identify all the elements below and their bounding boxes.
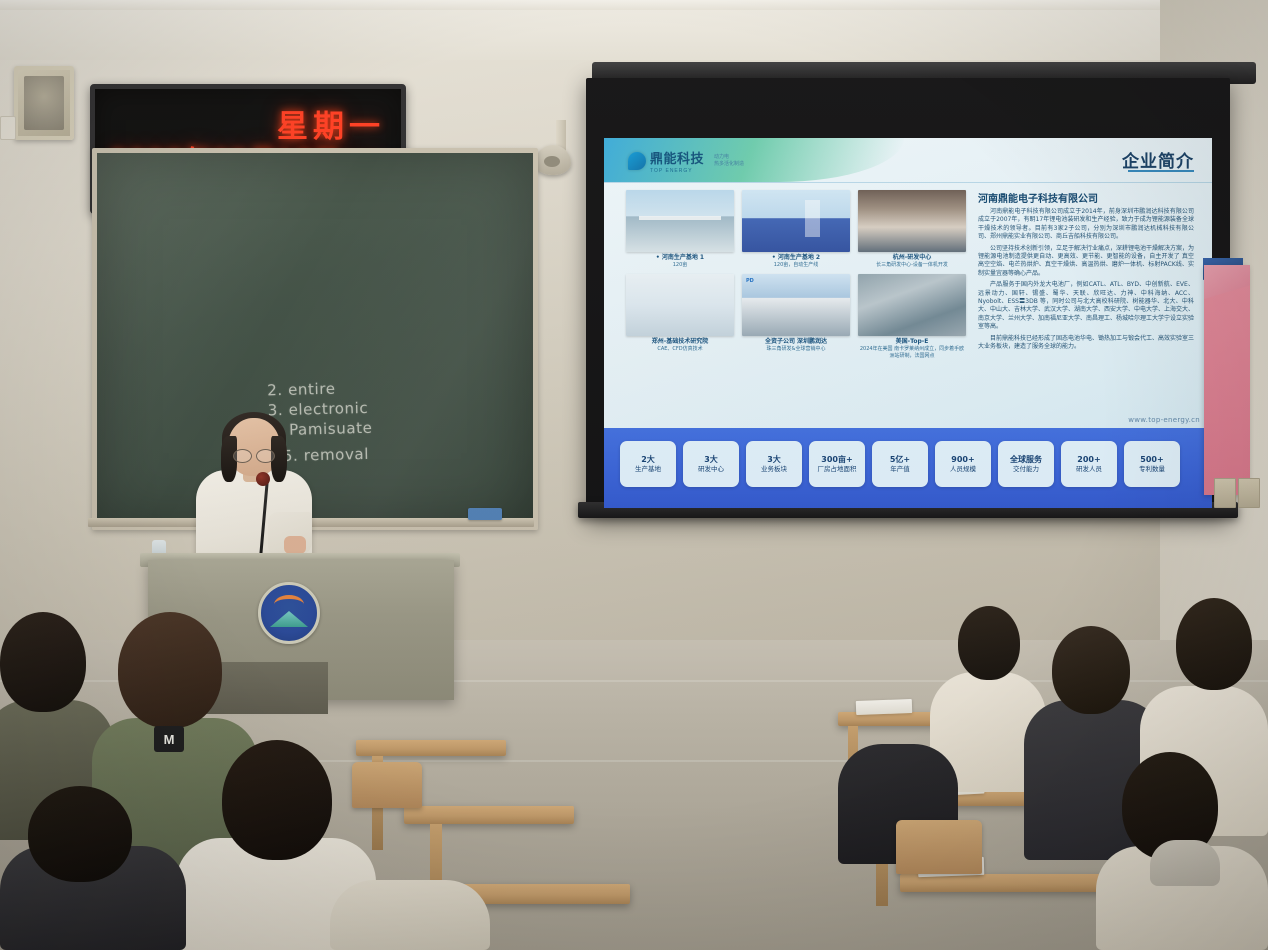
student-chair — [352, 762, 422, 808]
wall-electrical-panels[interactable] — [1214, 478, 1260, 508]
speaker-glasses-icon — [233, 449, 275, 461]
wall-speaker-icon — [14, 66, 74, 140]
photo-cell: • 河南生产基地 2 120亩，自动生产线 — [742, 190, 850, 269]
statistics-band: 2大 生产基地 3大 研发中心 3大 业务板块 300亩+ 厂房占地面积 5亿+… — [604, 428, 1212, 508]
stat-label: 研发中心 — [698, 465, 724, 474]
podium-front-panel — [206, 662, 328, 714]
photo-cell: 郑州-基础技术研究院 CAE、CFD仿真技术 — [626, 274, 734, 360]
photo-zhengzhou-research-institute — [626, 274, 734, 336]
photo-cell: PD 全资子公司 深圳鹏润达 珠三角研发&全球营销中心 — [742, 274, 850, 360]
stat-value: 200+ — [1077, 454, 1100, 465]
student-head — [222, 740, 332, 860]
company-description-block: 河南鼎能电子科技有限公司 河南鼎能电子科技有限公司成立于2014年，前身深圳市鹏… — [978, 190, 1194, 355]
photo-henan-base-2 — [742, 190, 850, 252]
student-chair — [896, 820, 982, 874]
logo-name-cn: 鼎能科技 — [650, 152, 704, 167]
slide-title-underline — [1128, 170, 1194, 172]
stat-value: 5亿+ — [890, 454, 910, 465]
stat-card: 3大 业务板块 — [746, 441, 802, 487]
company-paragraph: 河南鼎能电子科技有限公司成立于2014年，前身深圳市鹏润达科技有限公司成立于20… — [978, 208, 1194, 242]
light-switch[interactable] — [0, 116, 16, 140]
stat-card: 500+ 专利数量 — [1124, 441, 1180, 487]
photo-pd-logo: PD — [746, 278, 754, 284]
presentation-slide: 鼎能科技 TOP ENERGY 动力电 热多活化制造 企业简介 • 河南生产基地… — [604, 138, 1212, 508]
photo-subcaption: 长三角研发中心-设备一体机开发 — [858, 262, 966, 269]
photo-row-2: 郑州-基础技术研究院 CAE、CFD仿真技术 PD 全资子公司 深圳鹏润达 珠三… — [626, 274, 966, 360]
photo-subcaption: 120亩 — [626, 262, 734, 269]
led-weekday: 星期一 — [277, 101, 385, 146]
stat-label: 研发人员 — [1076, 465, 1102, 474]
slide-title: 企业简介 — [1122, 147, 1194, 172]
company-paragraph: 公司坚持技术创新引领，立足于解决行业痛点，深耕锂电池干燥解决方案，为锂能源电池制… — [978, 245, 1194, 279]
jacket-brand-badge: M — [154, 726, 184, 752]
blackboard-glare — [97, 153, 533, 525]
company-paragraph: 产品服务于国内外龙大电池厂，例如CATL、ATL、BYD、中创新航、EVE、远景… — [978, 281, 1194, 331]
slide-header-divider — [604, 182, 1212, 183]
photo-caption: • 河南生产基地 1 — [626, 252, 734, 262]
company-logo: 鼎能科技 TOP ENERGY 动力电 热多活化制造 — [628, 148, 744, 174]
student-head — [958, 606, 1020, 680]
blackboard-line-3: 4. Pamisuate — [268, 416, 458, 441]
photo-cell: 杭州-研发中心 长三角研发中心-设备一体机开发 — [858, 190, 966, 269]
stat-card: 200+ 研发人员 — [1061, 441, 1117, 487]
blackboard-line-4: 5. removal — [283, 442, 459, 466]
photo-subcaption: 珠三角研发&全球营销中心 — [742, 346, 850, 353]
open-notebook[interactable] — [856, 699, 912, 715]
stat-label: 人员规模 — [950, 465, 976, 474]
student-desk — [356, 740, 506, 756]
wall-banner — [1204, 265, 1250, 495]
photo-caption: 美国-Top-E — [858, 336, 966, 346]
stat-value: 500+ — [1140, 454, 1163, 465]
stat-label: 业务板块 — [761, 465, 787, 474]
speaker-hand — [284, 536, 306, 554]
student-face-mask — [1150, 840, 1220, 886]
blackboard-handwriting: 2. entire 3. electronic 4. Pamisuate 5. … — [267, 376, 459, 467]
student-head — [1052, 626, 1130, 714]
stat-value: 2大 — [641, 454, 655, 465]
stat-value: 300亩+ — [821, 454, 852, 465]
photo-caption: 杭州-研发中心 — [858, 252, 966, 262]
photo-caption: 全资子公司 深圳鹏润达 — [742, 336, 850, 346]
stat-card: 300亩+ 厂房占地面积 — [809, 441, 865, 487]
photo-subcaption: 120亩，自动生产线 — [742, 262, 850, 269]
photo-usa-top-e — [858, 274, 966, 336]
stat-card: 900+ 人员规模 — [935, 441, 991, 487]
photo-subcaption: 2024年在美国 南卡罗莱纳州成立，同步着手欧洲站研制，法国网点 — [858, 346, 966, 360]
photo-henan-base-1 — [626, 190, 734, 252]
photo-subcaption: CAE、CFD仿真技术 — [626, 346, 734, 353]
company-website-url: www.top-energy.cn — [1128, 416, 1200, 424]
facility-photo-grid: • 河南生产基地 1 120亩 • 河南生产基地 2 120亩，自动生产线 杭州… — [626, 190, 966, 365]
statistics-list: 2大 生产基地 3大 研发中心 3大 业务板块 300亩+ 厂房占地面积 5亿+… — [620, 441, 1180, 487]
stat-card: 2大 生产基地 — [620, 441, 676, 487]
university-emblem-icon — [258, 582, 320, 644]
photo-cell: 美国-Top-E 2024年在美国 南卡罗莱纳州成立，同步着手欧洲站研制，法国网… — [858, 274, 966, 360]
student-desk — [404, 806, 574, 824]
security-camera-icon — [535, 145, 571, 175]
logo-droplet-icon — [628, 152, 646, 170]
stat-label: 厂房占地面积 — [818, 465, 857, 474]
logo-tagline-2: 热多活化制造 — [714, 161, 744, 168]
photo-row-1: • 河南生产基地 1 120亩 • 河南生产基地 2 120亩，自动生产线 杭州… — [626, 190, 966, 269]
stat-label: 专利数量 — [1139, 465, 1165, 474]
photo-hangzhou-rd-center — [858, 190, 966, 252]
company-name-heading: 河南鼎能电子科技有限公司 — [978, 190, 1194, 205]
photo-cell: • 河南生产基地 1 120亩 — [626, 190, 734, 269]
blackboard — [92, 148, 538, 530]
stat-value: 3大 — [704, 454, 718, 465]
photo-shenzhen-subsidiary: PD — [742, 274, 850, 336]
stat-label: 生产基地 — [635, 465, 661, 474]
stat-value: 3大 — [767, 454, 781, 465]
photo-caption: • 河南生产基地 2 — [742, 252, 850, 262]
stat-label: 交付能力 — [1013, 465, 1039, 474]
student-head — [118, 612, 222, 728]
logo-name-en: TOP ENERGY — [650, 168, 704, 174]
stat-value: 900+ — [951, 454, 974, 465]
stat-card: 3大 研发中心 — [683, 441, 739, 487]
stat-value: 全球服务 — [1010, 454, 1042, 465]
student-head — [1176, 598, 1252, 690]
student-head — [28, 786, 132, 882]
student-head — [0, 612, 86, 712]
stat-card: 5亿+ 年产值 — [872, 441, 928, 487]
ceiling-edge — [0, 0, 1268, 10]
stat-label: 年产值 — [890, 465, 910, 474]
microphone-head[interactable] — [256, 472, 270, 486]
jacket-badge-letter: M — [164, 732, 175, 747]
company-paragraph: 目前鼎能科技已经形成了固态电池华电、锄热加工与锻会代工、高效实验室三大业务板块，… — [978, 335, 1194, 352]
student-torso — [330, 880, 490, 950]
photo-caption: 郑州-基础技术研究院 — [626, 336, 734, 346]
stat-card: 全球服务 交付能力 — [998, 441, 1054, 487]
logo-tagline-1: 动力电 — [714, 154, 744, 161]
classroom-scene: 2025年05月12日 星期一 14:38 2. entire 3. elect… — [0, 0, 1268, 950]
blackboard-eraser[interactable] — [468, 508, 502, 520]
